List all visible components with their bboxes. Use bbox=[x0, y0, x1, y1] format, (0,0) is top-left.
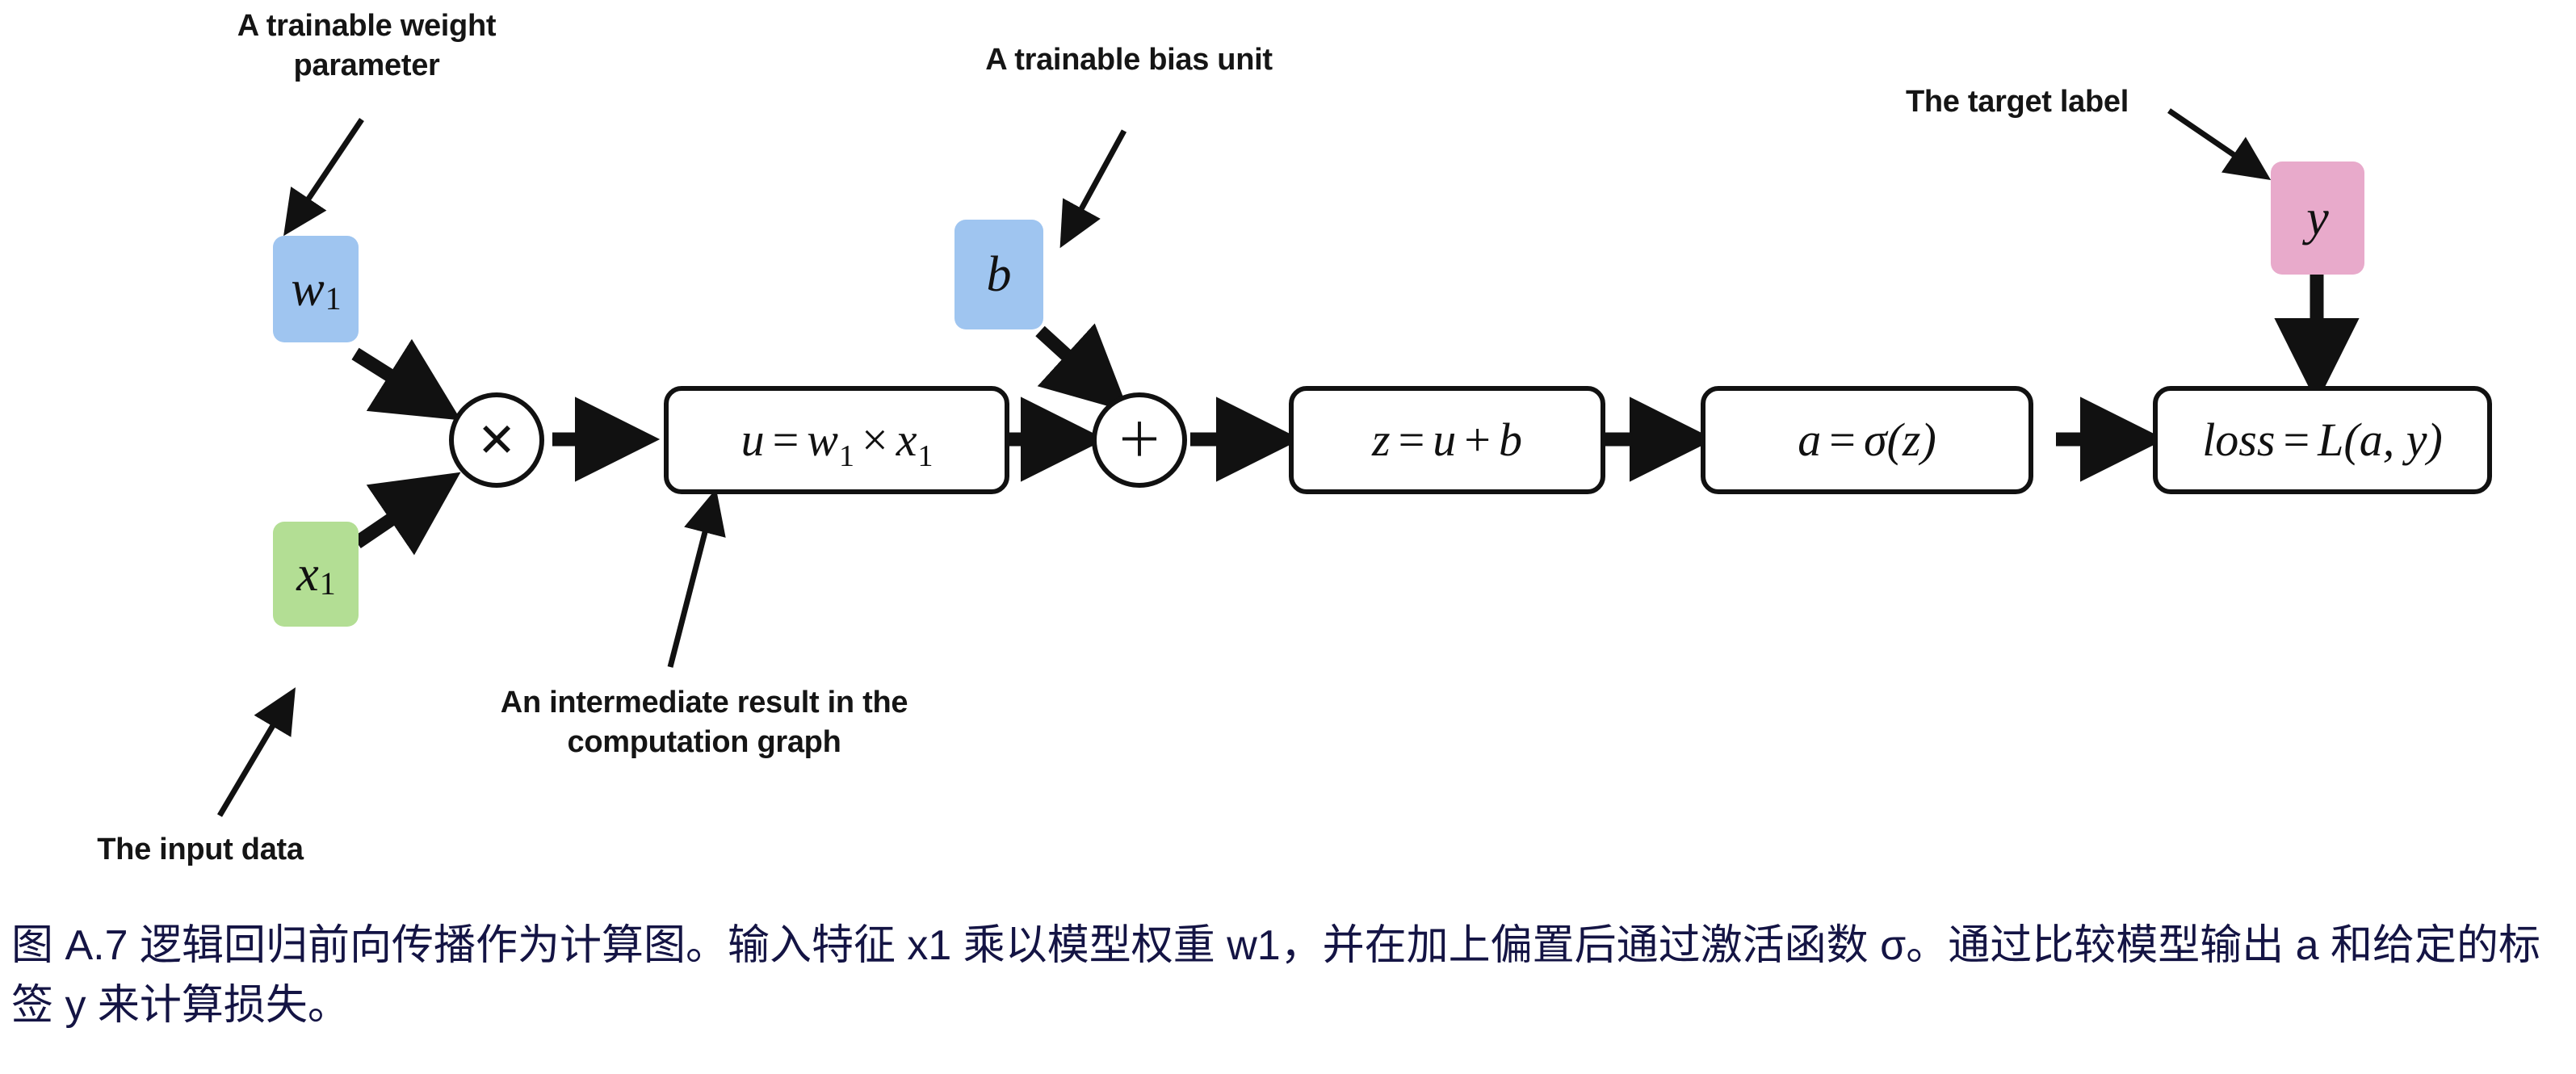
equation-u-text: u=w1×x1 bbox=[741, 417, 933, 464]
leader-input-arrow bbox=[220, 701, 287, 816]
callout-bias-unit: A trainable bias unit bbox=[943, 40, 1315, 80]
node-w1-label: w bbox=[291, 264, 324, 314]
callout-intermediate-result: An intermediate result in the computatio… bbox=[454, 683, 954, 761]
leader-intermediate-arrow bbox=[670, 504, 712, 667]
node-w1[interactable]: w1 bbox=[273, 236, 359, 342]
node-x1[interactable]: x1 bbox=[273, 522, 359, 627]
node-y-label: y bbox=[2306, 193, 2329, 243]
equation-box-loss[interactable]: loss=L(a, y) bbox=[2153, 386, 2492, 494]
multiply-icon: ✕ bbox=[477, 417, 517, 464]
equation-loss-text: loss=L(a, y) bbox=[2202, 417, 2443, 464]
operator-add[interactable]: ＋ bbox=[1092, 392, 1187, 488]
leader-weight-arrow bbox=[292, 120, 362, 223]
node-x1-subscript: 1 bbox=[320, 568, 336, 600]
node-b[interactable]: b bbox=[954, 220, 1043, 329]
callout-input-data: The input data bbox=[63, 830, 338, 870]
operator-multiply[interactable]: ✕ bbox=[449, 392, 544, 488]
equation-box-u[interactable]: u=w1×x1 bbox=[664, 386, 1009, 494]
figure-caption: 图 A.7 逻辑回归前向传播作为计算图。输入特征 x1 乘以模型权重 w1，并在… bbox=[11, 917, 2571, 1036]
leader-bias-arrow bbox=[1068, 131, 1124, 234]
equation-a-text: a=σ(z) bbox=[1798, 417, 1936, 464]
equation-box-z[interactable]: z=u+b bbox=[1289, 386, 1605, 494]
computation-graph-figure: A trainable weight parameter A trainable… bbox=[0, 0, 2576, 888]
edge-b-to-add bbox=[1040, 331, 1113, 397]
callout-target-label: The target label bbox=[1856, 82, 2179, 122]
callout-weight-parameter: A trainable weight parameter bbox=[205, 6, 528, 85]
equation-z-text: z=u+b bbox=[1372, 417, 1522, 464]
edge-x1-to-multiply bbox=[357, 485, 443, 543]
plus-icon: ＋ bbox=[1116, 417, 1163, 464]
node-y[interactable]: y bbox=[2271, 162, 2364, 275]
node-x1-label: x bbox=[296, 549, 319, 599]
leader-target-arrow bbox=[2169, 111, 2258, 171]
node-w1-subscript: 1 bbox=[325, 283, 342, 315]
edge-w1-to-multiply bbox=[355, 354, 443, 409]
node-b-label: b bbox=[987, 250, 1012, 300]
equation-box-a[interactable]: a=σ(z) bbox=[1701, 386, 2033, 494]
